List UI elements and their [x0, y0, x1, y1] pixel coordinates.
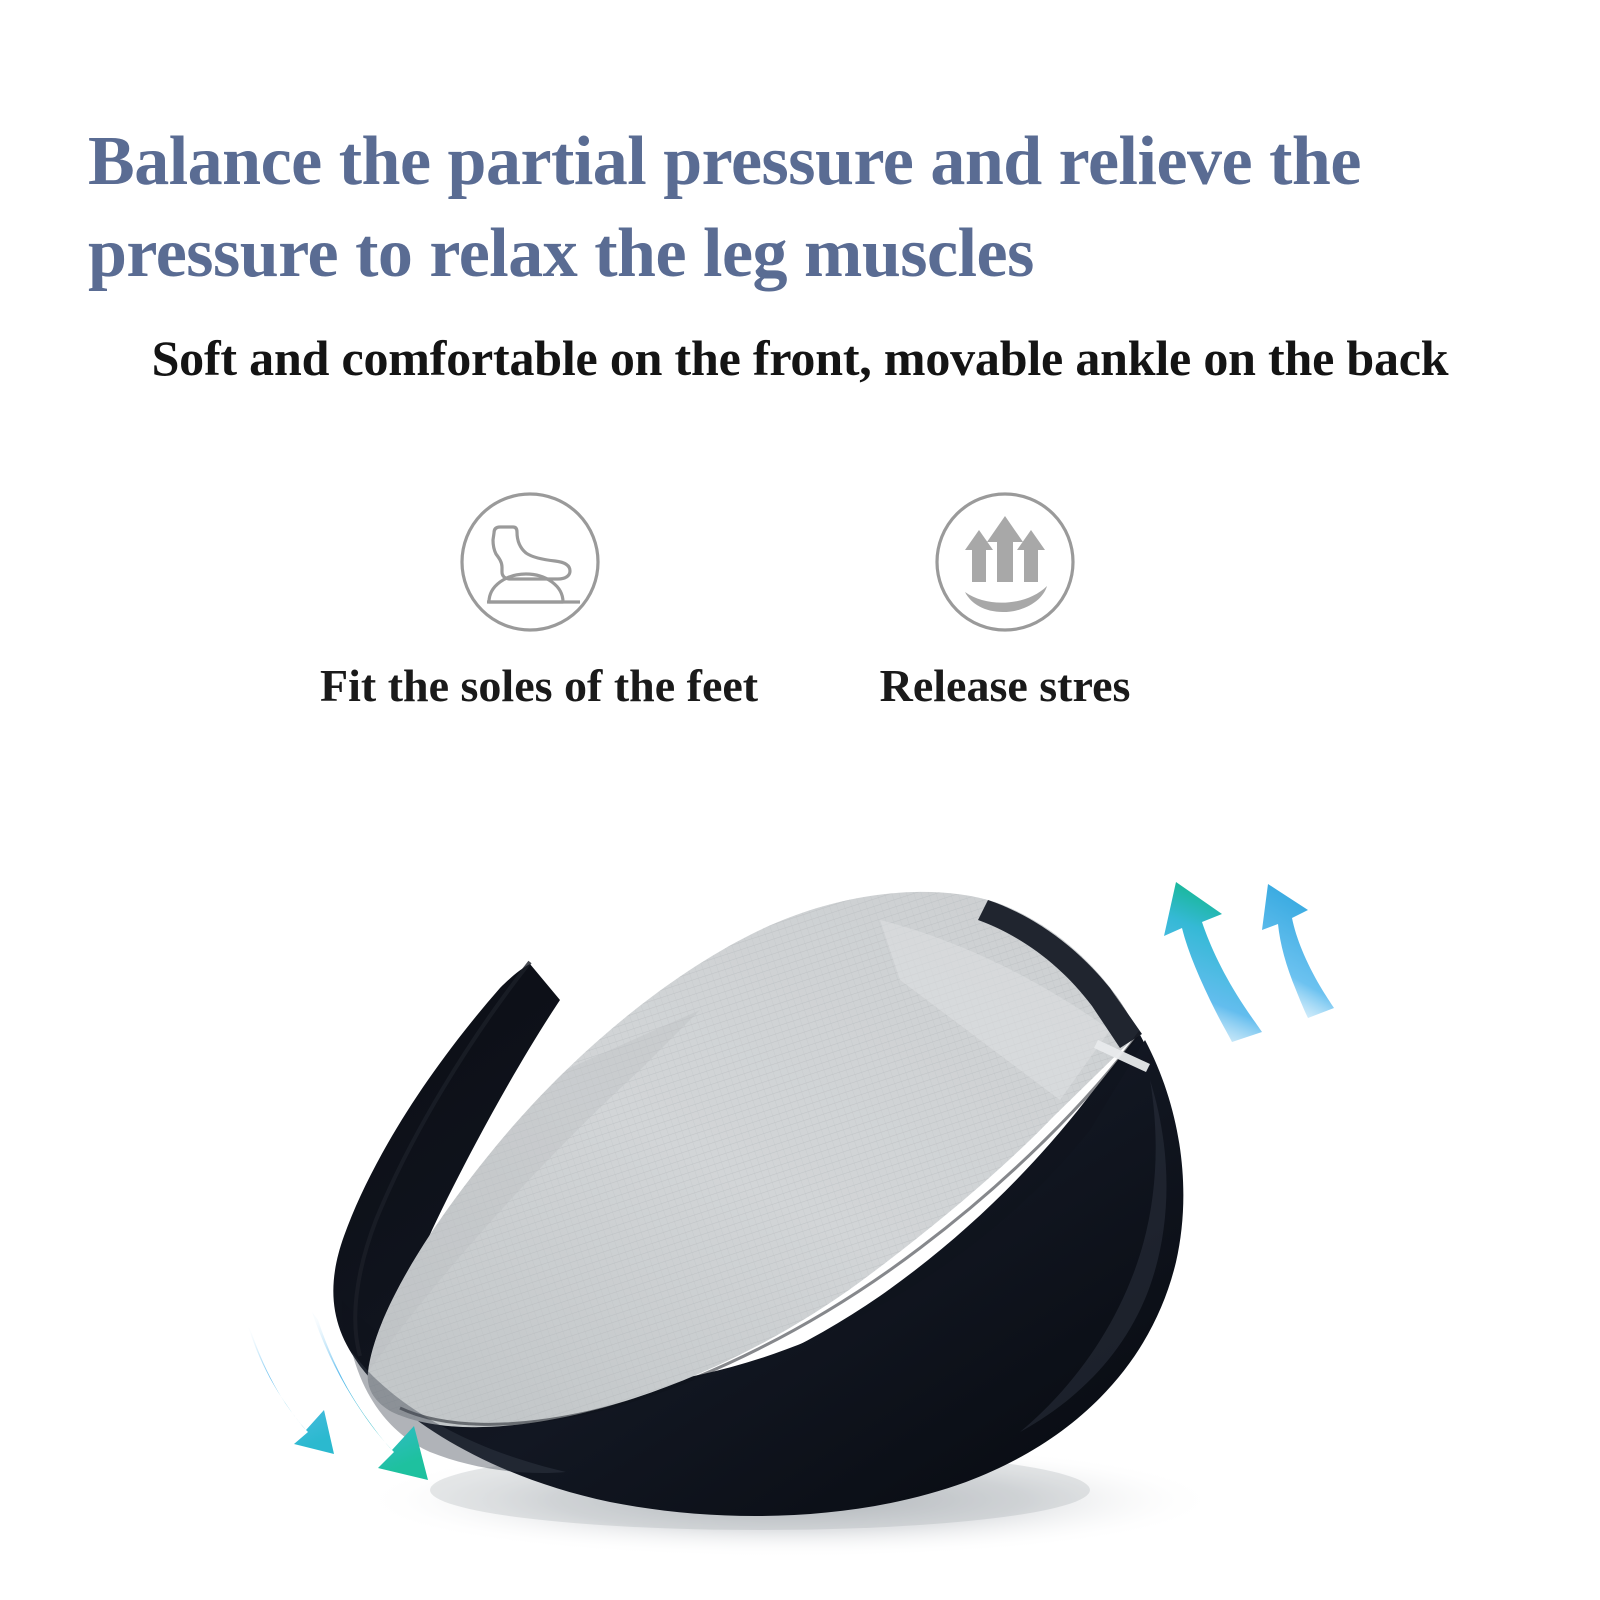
- product-feature-page: Balance the partial pressure and relieve…: [0, 0, 1600, 1600]
- page-headline: Balance the partial pressure and relieve…: [88, 116, 1518, 300]
- feature-label-fit-soles: Fit the soles of the feet: [320, 658, 740, 714]
- page-subheadline: Soft and comfortable on the front, movab…: [0, 326, 1600, 390]
- foot-on-cushion-icon: [456, 488, 604, 636]
- product-image: [0, 800, 1600, 1600]
- three-up-arrows-icon: [931, 488, 1079, 636]
- feature-row: Fit the soles of the feet Release stres: [0, 488, 1600, 738]
- feature-label-release-stress: Release stres: [795, 658, 1215, 714]
- feature-item-fit-soles: Fit the soles of the feet: [320, 488, 740, 714]
- up-arrow-group: [1164, 882, 1334, 1042]
- feature-item-release-stress: Release stres: [795, 488, 1215, 714]
